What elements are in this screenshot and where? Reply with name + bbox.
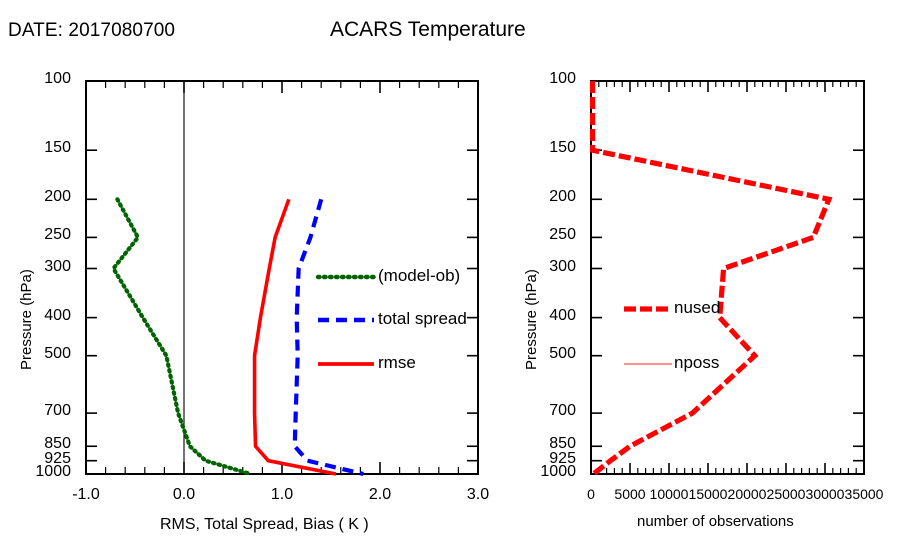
right-x-tick-35000: 35000 (834, 486, 894, 502)
left-x-tick-0.0: 0.0 (154, 486, 214, 504)
left-y-tick-300: 300 (42, 258, 71, 276)
left-x-tick--1.0: -1.0 (56, 486, 116, 504)
left-y-tick-150: 150 (42, 139, 71, 157)
left-y-tick-250: 250 (42, 226, 71, 244)
right-y-tick-500: 500 (547, 345, 576, 363)
right-panel-series (593, 81, 829, 474)
right-panel-frame (591, 81, 864, 474)
left-x-tick-1.0: 1.0 (252, 486, 312, 504)
left-y-tick-200: 200 (42, 188, 71, 206)
left-legend-label-spread: total spread (378, 309, 467, 329)
right-legend-label-nposs: nposs (674, 353, 719, 373)
right-y-tick-700: 700 (547, 402, 576, 420)
chart-page: DATE: 2017080700 ACARS Temperature Press… (0, 0, 900, 560)
left-y-tick-500: 500 (42, 345, 71, 363)
left-x-tick-3.0: 3.0 (448, 486, 508, 504)
left-y-tick-1000: 1000 (33, 463, 71, 481)
right-y-tick-1000: 1000 (538, 463, 576, 481)
right-y-tick-300: 300 (547, 258, 576, 276)
legend-swatches (318, 277, 672, 364)
left-x-axis-title: RMS, Total Spread, Bias ( K ) (160, 516, 369, 534)
left-x-tick-2.0: 2.0 (350, 486, 410, 504)
left-series-totalspread (295, 199, 364, 474)
right-y-tick-150: 150 (547, 139, 576, 157)
left-panel-series (113, 199, 363, 474)
left-series-modelob (113, 199, 250, 474)
left-y-axis-title: Pressure (hPa) (18, 269, 35, 370)
right-y-tick-400: 400 (547, 307, 576, 325)
left-y-tick-700: 700 (42, 402, 71, 420)
left-legend-label-rmse: rmse (378, 353, 416, 373)
right-series-nused (593, 81, 829, 474)
right-y-axis-title: Pressure (hPa) (523, 269, 540, 370)
right-y-tick-200: 200 (547, 188, 576, 206)
right-y-tick-250: 250 (547, 226, 576, 244)
right-y-tick-100: 100 (547, 70, 576, 88)
left-y-tick-100: 100 (42, 70, 71, 88)
right-legend-label-nused: nused (674, 298, 720, 318)
right-panel-ticks (591, 81, 864, 474)
right-x-axis-title: number of observations (637, 513, 794, 530)
left-y-tick-400: 400 (42, 307, 71, 325)
left-legend-label-bias: (model-ob) (378, 266, 460, 286)
